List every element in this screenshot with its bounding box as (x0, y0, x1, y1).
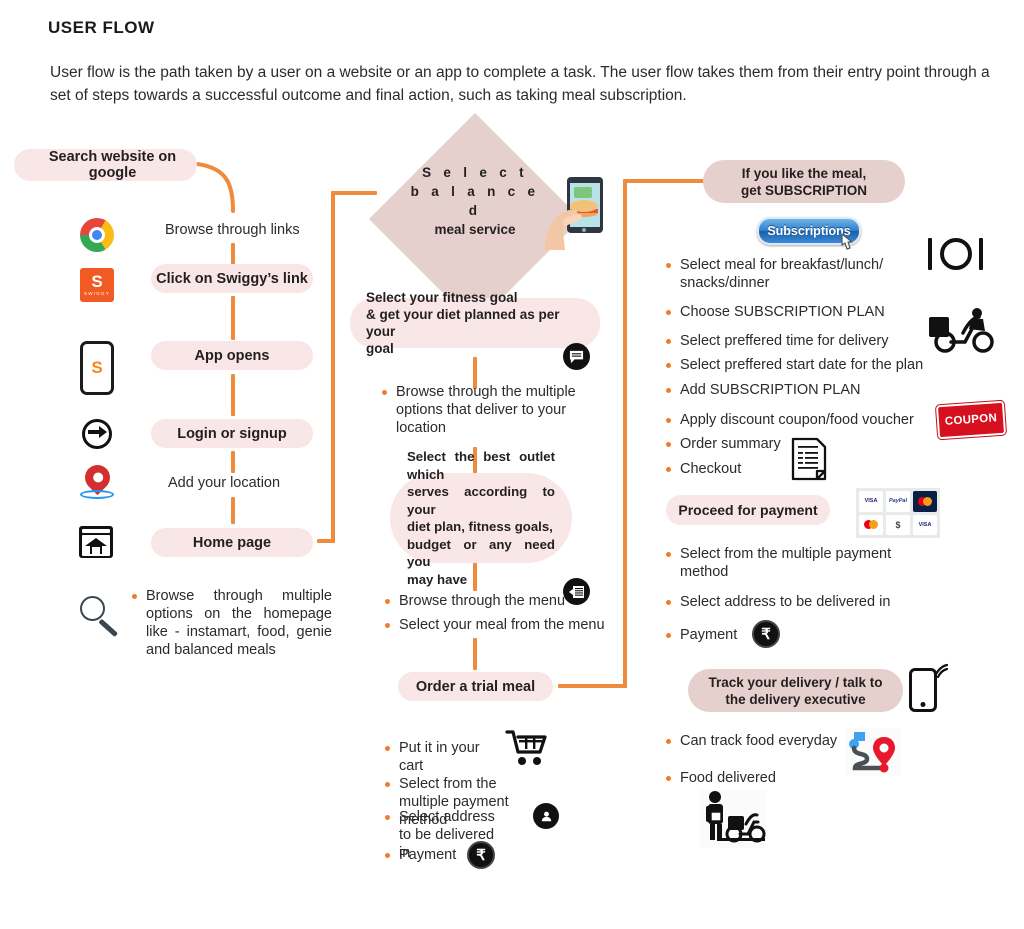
login-icon (82, 419, 112, 449)
pill-click-swiggy-link[interactable]: Click on Swiggy’s link (151, 264, 313, 293)
shopping-cart-icon (505, 728, 551, 768)
pay-bullet-3-text: Payment (680, 626, 737, 644)
pill-login-or-signup[interactable]: Login or signup (151, 419, 313, 448)
bullet-dot (385, 853, 390, 858)
connector-seg-3 (231, 374, 235, 416)
rupee-glyph: ₹ (761, 625, 771, 643)
home-window-titlebar (82, 529, 110, 533)
pill-search-website[interactable]: Search website on google (14, 149, 197, 181)
connector-home-top-h (331, 191, 377, 195)
hand-tablet-food-icon (543, 176, 605, 252)
left-footer-bullet-text: Browse through multiple options on the h… (146, 587, 332, 659)
list-item: Select preffered time for delivery (666, 332, 916, 350)
home-walls-shape (90, 545, 102, 554)
fitness-pill-line-1: Select your fitness goal (366, 289, 584, 306)
list-item: Add SUBSCRIPTION PLAN (666, 381, 916, 399)
connector-seg-4 (231, 451, 235, 473)
bullet-dot (385, 782, 390, 787)
menu-bullet-1-text: Browse through the menu (399, 592, 565, 610)
sub-bullet-4-text: Select preffered start date for the plan (680, 356, 923, 374)
pill-order-trial-meal[interactable]: Order a trial meal (398, 672, 553, 701)
bullet-dot (666, 363, 671, 368)
sub-bullet-3-text: Select preffered time for delivery (680, 332, 888, 350)
track-pill-line-2: the delivery executive (708, 691, 882, 708)
list-item: Can track food everyday (666, 732, 866, 750)
pill-track-delivery[interactable]: Track your delivery / talk to the delive… (688, 669, 903, 712)
bullet-dot (666, 600, 671, 605)
bullet-dot (666, 339, 671, 344)
track-bullet-2-text: Food delivered (680, 769, 776, 787)
home-window-icon (79, 526, 113, 558)
bullet-dot (132, 594, 137, 599)
plate-cutlery-icon (940, 238, 972, 270)
list-item: Apply discount coupon/food voucher (666, 411, 931, 429)
pay-bullet-2-text: Select address to be delivered in (680, 593, 890, 611)
bullet-dot (385, 599, 390, 604)
outlet-line-2: serves according to your (407, 483, 555, 518)
sub-bullet-1-line-1: Select meal for breakfast/lunch/ (680, 257, 883, 273)
location-pin-shadow-icon (80, 490, 114, 499)
home-window-body (82, 535, 110, 556)
login-arrowhead-icon (99, 426, 107, 438)
subscription-pill-line-2: get SUBSCRIPTION (741, 182, 867, 199)
list-item: Browse through multiple options on the h… (132, 587, 332, 659)
menu-list-glyph (569, 584, 585, 600)
bullet-dot (666, 442, 671, 447)
diamond-label: S e l e c t b a l a n c e d meal service (404, 163, 546, 239)
phone-swiggy-mark: S (91, 358, 102, 378)
card-dollar: $ (886, 515, 910, 536)
bullet-dot (385, 815, 390, 820)
fitness-pill-line-2: & get your diet planned as per your (366, 306, 584, 340)
connector-home-bottom-h (317, 539, 335, 543)
chrome-icon (80, 218, 114, 252)
rupee-glyph: ₹ (476, 846, 486, 864)
bullet-dot (385, 623, 390, 628)
payment-cards-icon: VISA PayPal $ VISA (856, 488, 940, 538)
list-item: Browse through the multiple options that… (382, 383, 592, 437)
address-pin-icon (533, 803, 559, 829)
card-mastercard-1 (913, 491, 937, 512)
order-summary-document-icon (791, 437, 827, 481)
pill-get-subscription[interactable]: If you like the meal, get SUBSCRIPTION (703, 160, 905, 203)
sub-bullet-5-text: Add SUBSCRIPTION PLAN (680, 381, 861, 399)
list-item: Food delivered (666, 769, 866, 787)
connector-right-top-h (625, 179, 705, 183)
mc-circle-right (923, 497, 932, 506)
fitness-pill-line-3: goal (366, 340, 584, 357)
menu-list-icon (563, 578, 590, 605)
user-flow-diagram: USER FLOW User flow is the path taken by… (0, 0, 1024, 929)
track-bullet-1-text: Can track food everyday (680, 732, 837, 750)
diamond-line-2: b a l a n c e d (404, 182, 546, 220)
connector-right-bottom-h (558, 684, 627, 688)
list-item: Choose SUBSCRIPTION PLAN (666, 303, 916, 321)
outlet-line-1: Select the best outlet which (407, 448, 555, 483)
sub-bullet-6-text: Apply discount coupon/food voucher (680, 411, 914, 429)
card-paypal: PayPal (886, 491, 910, 512)
outlet-line-4: budget or any need you (407, 536, 555, 571)
bullet-dot (666, 633, 671, 638)
magnifier-icon (80, 596, 105, 621)
pill-proceed-payment-label: Proceed for payment (678, 502, 817, 518)
card-mastercard-2 (859, 515, 883, 536)
pill-fitness-goal[interactable]: Select your fitness goal & get your diet… (350, 298, 600, 348)
pay-bullet-1-text: Select from the multiple payment method (680, 545, 891, 581)
chat-bubble-glyph (569, 349, 584, 364)
pill-app-opens[interactable]: App opens (151, 341, 313, 370)
bullet-dot (666, 776, 671, 781)
signal-waves-icon (932, 662, 952, 680)
bullet-dot (385, 746, 390, 751)
hand-cursor-icon (838, 232, 860, 254)
rupee-coin-icon: ₹ (467, 841, 495, 869)
sub-bullet-1-line-2: snacks/dinner (680, 275, 769, 291)
connector-right-v (623, 179, 627, 688)
list-item: Select your meal from the menu (385, 616, 605, 634)
rupee-coin-icon: ₹ (752, 620, 780, 648)
outlet-line-5: may have (407, 571, 555, 589)
card-visa-1: VISA (859, 491, 883, 512)
coupon-label: COUPON (945, 412, 998, 428)
sub-bullet-7-text: Order summary (680, 435, 781, 453)
pill-home-page[interactable]: Home page (151, 528, 313, 557)
swiggy-icon: S SWIGGY (80, 268, 114, 302)
bullet-dot (666, 467, 671, 472)
bullet-dot (666, 739, 671, 744)
bullet-dot (666, 418, 671, 423)
subscription-pill-line-1: If you like the meal, (741, 165, 867, 182)
list-item: Put it in your cart (385, 739, 505, 775)
swiggy-mark: S (91, 275, 102, 289)
chat-bubble-icon (563, 343, 590, 370)
card-visa-2: VISA (913, 515, 937, 536)
bullet-dot (666, 310, 671, 315)
fork-icon (928, 238, 932, 270)
delivery-person-scooter-icon (700, 790, 766, 848)
pill-proceed-payment[interactable]: Proceed for payment (666, 495, 830, 525)
list-item: Select meal for breakfast/lunch/ snacks/… (666, 256, 906, 292)
outlet-line-3: diet plan, fitness goals, (407, 518, 555, 536)
coupon-icon: COUPON (936, 401, 1006, 440)
track-pill-line-1: Track your delivery / talk to (708, 674, 882, 691)
diamond-line-1: S e l e c t (404, 163, 546, 182)
connector-center-5 (473, 638, 477, 670)
pay-bullet-1-line-1: Select from the multiple payment (680, 546, 891, 562)
trial-bullet-1-text: Put it in your cart (399, 739, 505, 775)
connector-home-v (331, 191, 335, 543)
list-item: Select address to be delivered in (666, 593, 916, 611)
bullet-dot (666, 263, 671, 268)
list-item: Select from the multiple payment method (666, 545, 916, 581)
connector-seg-5 (231, 497, 235, 524)
route-map-pin-icon (845, 728, 901, 776)
swiggy-wordmark: SWIGGY (84, 291, 110, 296)
phone-swiggy-icon: S (80, 341, 114, 395)
connector-seg-2 (231, 296, 235, 340)
sub-bullet-1-text: Select meal for breakfast/lunch/ snacks/… (680, 256, 883, 292)
pill-order-trial-meal-label: Order a trial meal (416, 679, 535, 695)
step-label-browse-links: Browse through links (165, 222, 300, 238)
pill-select-best-outlet[interactable]: Select the best outlet which serves acco… (390, 473, 572, 563)
menu-bullet-2-text: Select your meal from the menu (399, 616, 605, 634)
step-label-add-location: Add your location (168, 475, 280, 491)
delivery-scooter-icon (925, 305, 999, 353)
knife-icon (979, 238, 983, 270)
trial-bullet-4-text: Payment (399, 846, 456, 864)
diamond-line-3: meal service (404, 220, 546, 239)
bullet-dot (382, 390, 387, 395)
browse-options-bullet-text: Browse through the multiple options that… (396, 383, 592, 437)
pay-bullet-1-line-2: method (680, 564, 728, 580)
sub-bullet-8-text: Checkout (680, 460, 741, 478)
sub-bullet-2-text: Choose SUBSCRIPTION PLAN (680, 303, 885, 321)
list-item: Select preffered start date for the plan (666, 356, 931, 374)
mc-circle-right (869, 520, 878, 529)
bullet-dot (666, 552, 671, 557)
address-pin-glyph (539, 809, 554, 824)
bullet-dot (666, 388, 671, 393)
